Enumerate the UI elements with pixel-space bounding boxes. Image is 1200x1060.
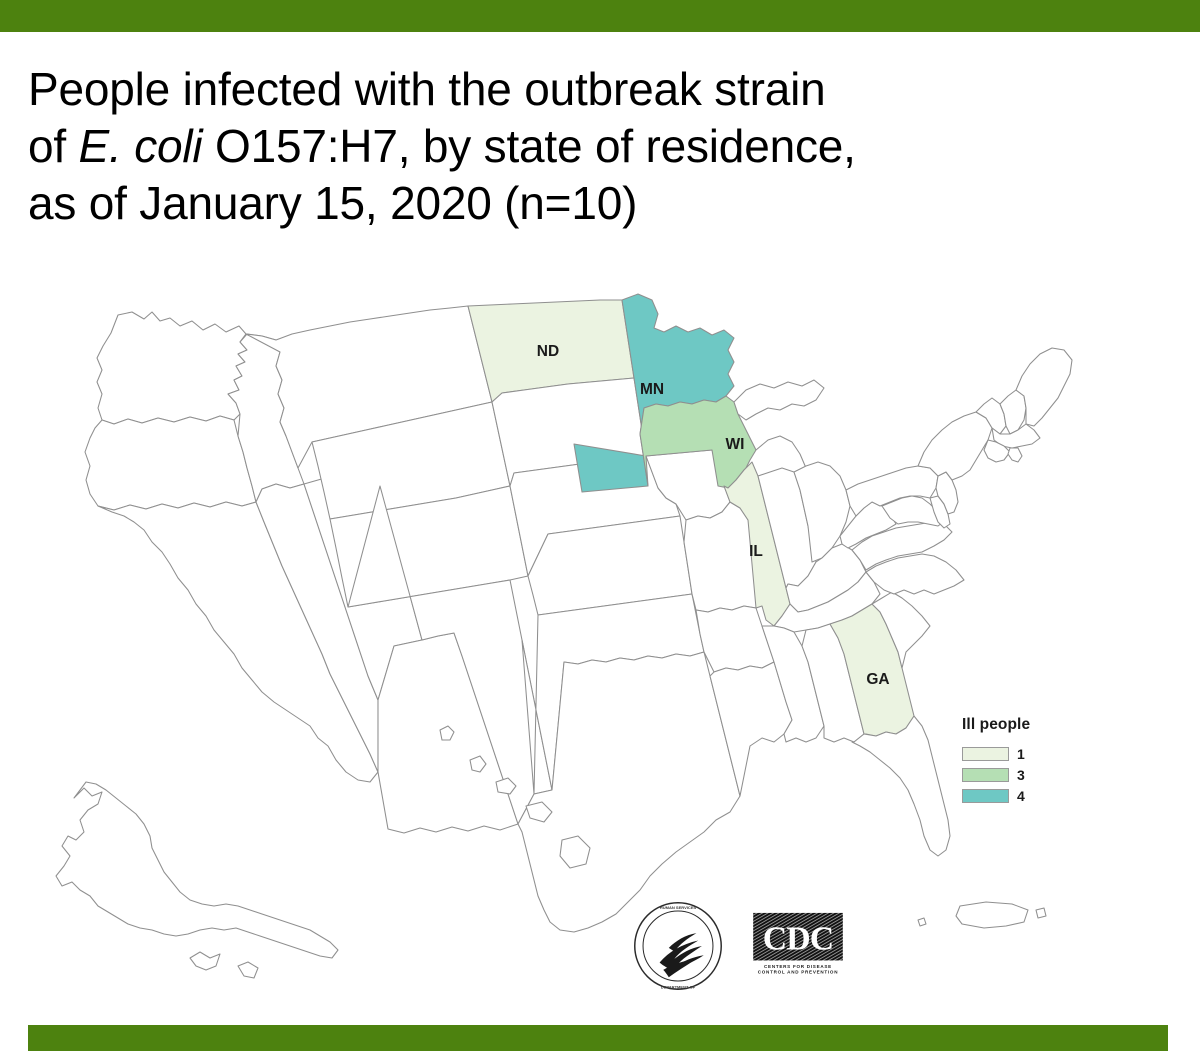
state-FL[interactable]	[852, 716, 950, 856]
state-MI-upper[interactable]	[734, 380, 824, 420]
legend-value-4: 4	[1017, 788, 1025, 804]
top-accent-bar	[0, 0, 1200, 32]
state-WA[interactable]	[97, 312, 247, 424]
legend-item-3[interactable]: 3	[962, 767, 1082, 783]
svg-text:CONTROL AND PREVENTION: CONTROL AND PREVENTION	[758, 970, 838, 975]
title-line-1: People infected with the outbreak strain	[28, 66, 1138, 112]
state-OR[interactable]	[85, 416, 256, 510]
title-line-3: as of January 15, 2020 (n=10)	[28, 180, 1138, 226]
territory-VI-inset[interactable]	[1036, 908, 1046, 918]
svg-text:DEPARTMENT OF: DEPARTMENT OF	[661, 984, 696, 989]
state-AK-inset[interactable]	[56, 782, 338, 978]
agency-logos: HUMAN SERVICES DEPARTMENT OF CDC CE	[632, 900, 862, 992]
svg-text:CENTERS FOR DISEASE: CENTERS FOR DISEASE	[764, 964, 832, 969]
state-label-MN: MN	[640, 381, 664, 398]
legend-value-1: 1	[1017, 746, 1025, 762]
territory-PR-inset[interactable]	[956, 902, 1028, 928]
title-line-2-suffix: O157:H7, by state of residence,	[202, 120, 855, 172]
us-choropleth-map: ND MN WI IL GA	[40, 290, 1130, 990]
legend-title: Ill people	[962, 716, 1082, 734]
title-line-2-prefix: of	[28, 120, 79, 172]
map-legend: Ill people 1 3 4	[962, 716, 1082, 809]
cdc-logo-icon: CDC CENTERS FOR DISEASE CONTROL AND PREV…	[752, 912, 844, 976]
state-AR[interactable]	[696, 606, 774, 672]
pathogen-name-italic: E. coli	[79, 120, 203, 172]
hhs-seal-icon: HUMAN SERVICES DEPARTMENT OF	[632, 900, 724, 992]
state-RI[interactable]	[1008, 448, 1022, 462]
state-label-WI: WI	[726, 436, 745, 453]
legend-value-3: 3	[1017, 767, 1025, 783]
state-label-GA: GA	[866, 671, 889, 688]
territory-dot-inset[interactable]	[918, 918, 926, 926]
page-title: People infected with the outbreak strain…	[28, 66, 1138, 237]
state-label-IL: IL	[749, 543, 763, 560]
legend-swatch-1	[962, 747, 1009, 761]
state-label-ND: ND	[537, 343, 559, 360]
svg-text:HUMAN SERVICES: HUMAN SERVICES	[660, 905, 697, 910]
bottom-accent-bar	[28, 1025, 1168, 1051]
svg-text:CDC: CDC	[763, 920, 834, 957]
legend-swatch-4	[962, 789, 1009, 803]
slide-canvas: People infected with the outbreak strain…	[0, 0, 1200, 1060]
legend-item-4[interactable]: 4	[962, 788, 1082, 804]
title-line-2: of E. coli O157:H7, by state of residenc…	[28, 123, 1138, 169]
legend-item-1[interactable]: 1	[962, 746, 1082, 762]
legend-swatch-3	[962, 768, 1009, 782]
